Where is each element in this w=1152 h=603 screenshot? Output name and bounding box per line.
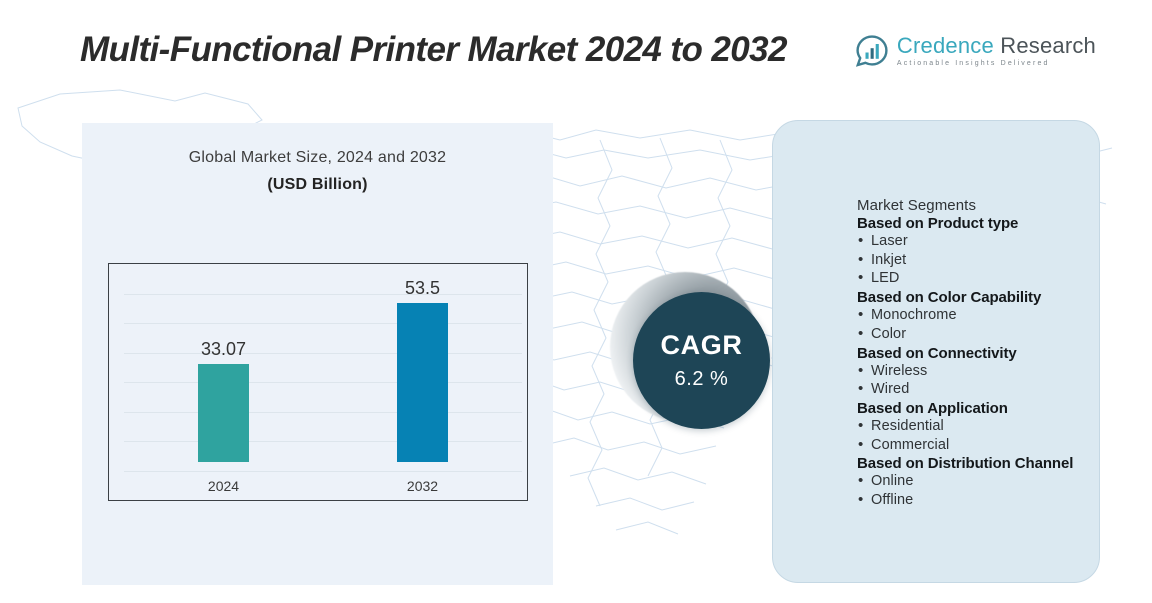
- bullet-icon: •: [858, 435, 863, 454]
- segment-item-label: Wired: [871, 381, 909, 397]
- bullet-icon: •: [858, 490, 863, 509]
- chart-bar: [397, 303, 449, 462]
- segment-item-label: Offline: [871, 492, 913, 508]
- infographic-canvas: Multi-Functional Printer Market 2024 to …: [0, 0, 1152, 603]
- segment-group-heading: Based on Distribution Channel: [857, 455, 1091, 472]
- segment-list-item: •Commercial: [857, 436, 1091, 455]
- segment-list-item: •LED: [857, 269, 1091, 288]
- bullet-icon: •: [858, 268, 863, 287]
- chart-gridline: [124, 471, 522, 472]
- chart-category-label: 2032: [357, 478, 489, 494]
- segment-item-label: Monochrome: [871, 307, 957, 323]
- bullet-icon: •: [858, 471, 863, 490]
- page-title: Multi-Functional Printer Market 2024 to …: [80, 30, 787, 70]
- segment-item-label: Color: [871, 326, 906, 342]
- segment-list-item: •Laser: [857, 232, 1091, 251]
- segment-list-item: •Residential: [857, 417, 1091, 436]
- brand-logo-text: Credence Research Actionable Insights De…: [897, 35, 1096, 67]
- segment-item-label: Residential: [871, 418, 944, 434]
- segment-group-heading: Based on Application: [857, 400, 1091, 417]
- bullet-icon: •: [858, 231, 863, 250]
- chart-bar: [198, 364, 250, 462]
- segment-item-label: Inkjet: [871, 252, 906, 268]
- segment-item-label: Laser: [871, 233, 908, 249]
- segment-list-item: •Wireless: [857, 362, 1091, 381]
- segment-list-item: •Monochrome: [857, 306, 1091, 325]
- market-segments-list: Market Segments Based on Product type•La…: [857, 197, 1091, 510]
- chart-heading: Global Market Size, 2024 and 2032 (USD B…: [82, 149, 553, 194]
- chart-bar-value-label: 33.07: [158, 339, 290, 360]
- brand-name-primary: Credence: [897, 33, 994, 58]
- segment-list-item: •Inkjet: [857, 251, 1091, 270]
- chart-bar-value-label: 53.5: [357, 278, 489, 299]
- segment-item-label: Online: [871, 473, 914, 489]
- bullet-icon: •: [858, 379, 863, 398]
- segment-item-label: LED: [871, 270, 900, 286]
- bullet-icon: •: [858, 250, 863, 269]
- cagr-value: 6.2 %: [675, 368, 729, 391]
- segment-list-item: •Online: [857, 472, 1091, 491]
- cagr-circle: CAGR 6.2 %: [633, 292, 770, 429]
- cagr-label: CAGR: [661, 330, 743, 361]
- bar-chart-circle-icon: [856, 35, 888, 67]
- cagr-badge: CAGR 6.2 %: [610, 275, 790, 455]
- bullet-icon: •: [858, 324, 863, 343]
- brand-tagline: Actionable Insights Delivered: [897, 60, 1096, 67]
- segment-item-label: Wireless: [871, 363, 927, 379]
- chart-plot-area: 33.07202453.52032: [124, 272, 522, 462]
- market-size-bar-chart: 33.07202453.52032: [108, 263, 528, 501]
- chart-heading-line1: Global Market Size, 2024 and 2032: [82, 149, 553, 167]
- segment-group-heading: Based on Connectivity: [857, 345, 1091, 362]
- brand-name: Credence Research: [897, 35, 1096, 57]
- brand-name-secondary: Research: [1000, 33, 1096, 58]
- segment-list-item: •Wired: [857, 380, 1091, 399]
- market-size-panel: Global Market Size, 2024 and 2032 (USD B…: [82, 123, 553, 585]
- segment-group-heading: Based on Product type: [857, 215, 1091, 232]
- bullet-icon: •: [858, 361, 863, 380]
- segment-group-heading: Based on Color Capability: [857, 289, 1091, 306]
- chart-bar-group: 33.072024: [198, 272, 250, 462]
- segment-list-item: •Color: [857, 325, 1091, 344]
- chart-bar-group: 53.52032: [397, 272, 449, 462]
- chart-category-label: 2024: [158, 478, 290, 494]
- brand-logo: Credence Research Actionable Insights De…: [856, 35, 1096, 67]
- bullet-icon: •: [858, 305, 863, 324]
- segment-item-label: Commercial: [871, 437, 949, 453]
- segment-list-item: •Offline: [857, 491, 1091, 510]
- chart-heading-line2: (USD Billion): [82, 176, 553, 194]
- bullet-icon: •: [858, 416, 863, 435]
- market-segments-title: Market Segments: [857, 197, 1091, 214]
- market-segments-panel: Market Segments Based on Product type•La…: [772, 120, 1100, 583]
